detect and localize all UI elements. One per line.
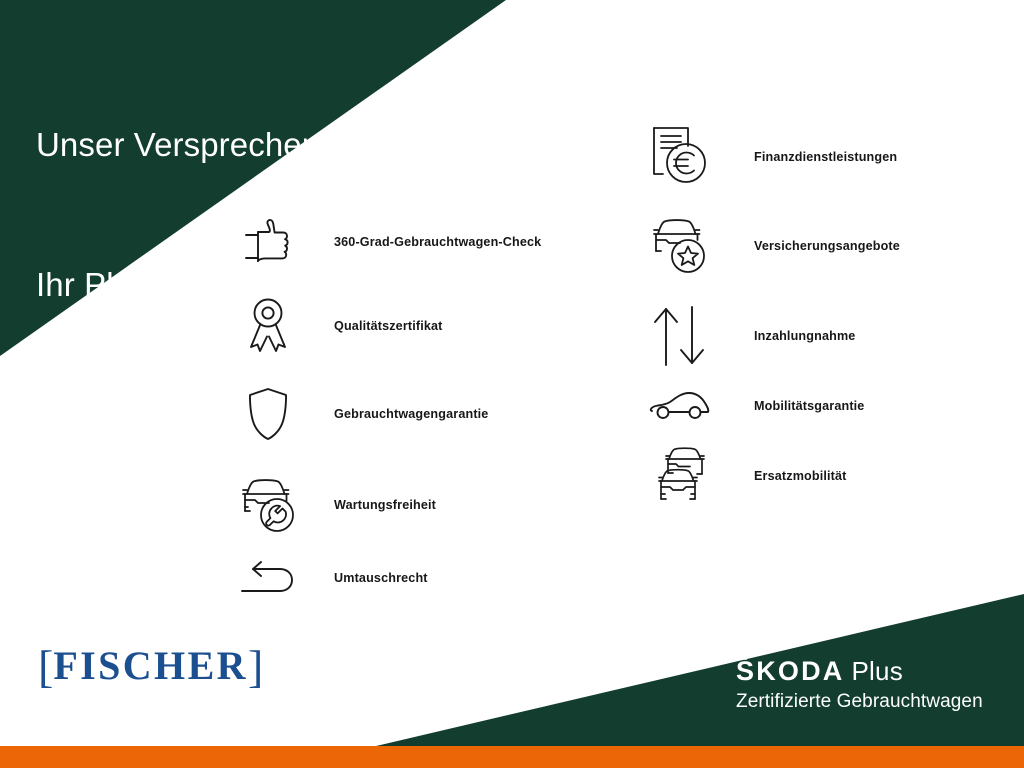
benefit-label: Gebrauchtwagengarantie (334, 407, 488, 421)
car-side-icon (648, 374, 712, 438)
car-wrench-icon (236, 473, 300, 537)
benefit-label: 360-Grad-Gebrauchtwagen-Check (334, 235, 541, 249)
headline-line-1: Unser Versprechen. (36, 122, 329, 169)
benefit-label: Umtauschrecht (334, 571, 428, 585)
benefit-label: Versicherungsangebote (754, 239, 900, 253)
benefit-label: Inzahlungnahme (754, 329, 855, 343)
skoda-plus-text: Plus (852, 656, 903, 686)
benefit-item-maintenance-free[interactable]: Wartungsfreiheit (236, 473, 436, 537)
benefit-label: Qualitätszertifikat (334, 319, 443, 333)
benefit-label: Ersatzmobilität (754, 469, 847, 483)
logo-text: FISCHER (53, 643, 248, 688)
skoda-subline: Zertifizierte Gebrauchtwagen (736, 692, 983, 711)
award-rosette-icon (236, 294, 300, 358)
benefit-label: Mobilitätsgarantie (754, 399, 864, 413)
benefit-item-quality-certificate[interactable]: Qualitätszertifikat (236, 294, 443, 358)
logo-bracket-open: [ (38, 641, 53, 692)
skoda-logo-line: ŠKODAPlus (736, 658, 983, 685)
shield-icon (236, 382, 300, 446)
benefit-item-insurance-offers[interactable]: Versicherungsangebote (648, 214, 900, 278)
brand-logo-skoda-plus: ŠKODAPlus Zertifizierte Gebrauchtwagen (736, 658, 983, 711)
benefit-item-right-of-exchange[interactable]: Umtauschrecht (236, 546, 428, 610)
benefit-item-mobility-guarantee[interactable]: Mobilitätsgarantie (648, 374, 864, 438)
benefit-item-financial-services[interactable]: Finanzdienstleistungen (648, 125, 897, 189)
benefit-item-trade-in[interactable]: Inzahlungnahme (648, 304, 855, 368)
promo-banner: Unser Versprechen. Ihr Plus. 360-Grad-Ge… (0, 0, 1024, 768)
dealer-logo-fischer[interactable]: [FISCHER] (38, 644, 263, 690)
thumbs-up-icon (236, 210, 300, 274)
benefit-item-used-car-warranty[interactable]: Gebrauchtwagengarantie (236, 382, 488, 446)
benefit-item-replacement-mobility[interactable]: Ersatzmobilität (648, 444, 847, 508)
skoda-wordmark: ŠKODA (736, 656, 845, 686)
logo-bracket-close: ] (248, 641, 263, 692)
benefit-item-360-check[interactable]: 360-Grad-Gebrauchtwagen-Check (236, 210, 541, 274)
orange-bottom-bar (0, 746, 1024, 768)
document-euro-icon (648, 125, 712, 189)
benefit-label: Wartungsfreiheit (334, 498, 436, 512)
up-down-arrows-icon (648, 304, 712, 368)
benefit-label: Finanzdienstleistungen (754, 150, 897, 164)
car-star-icon (648, 214, 712, 278)
return-arrow-icon (236, 546, 300, 610)
two-cars-icon (648, 444, 712, 508)
